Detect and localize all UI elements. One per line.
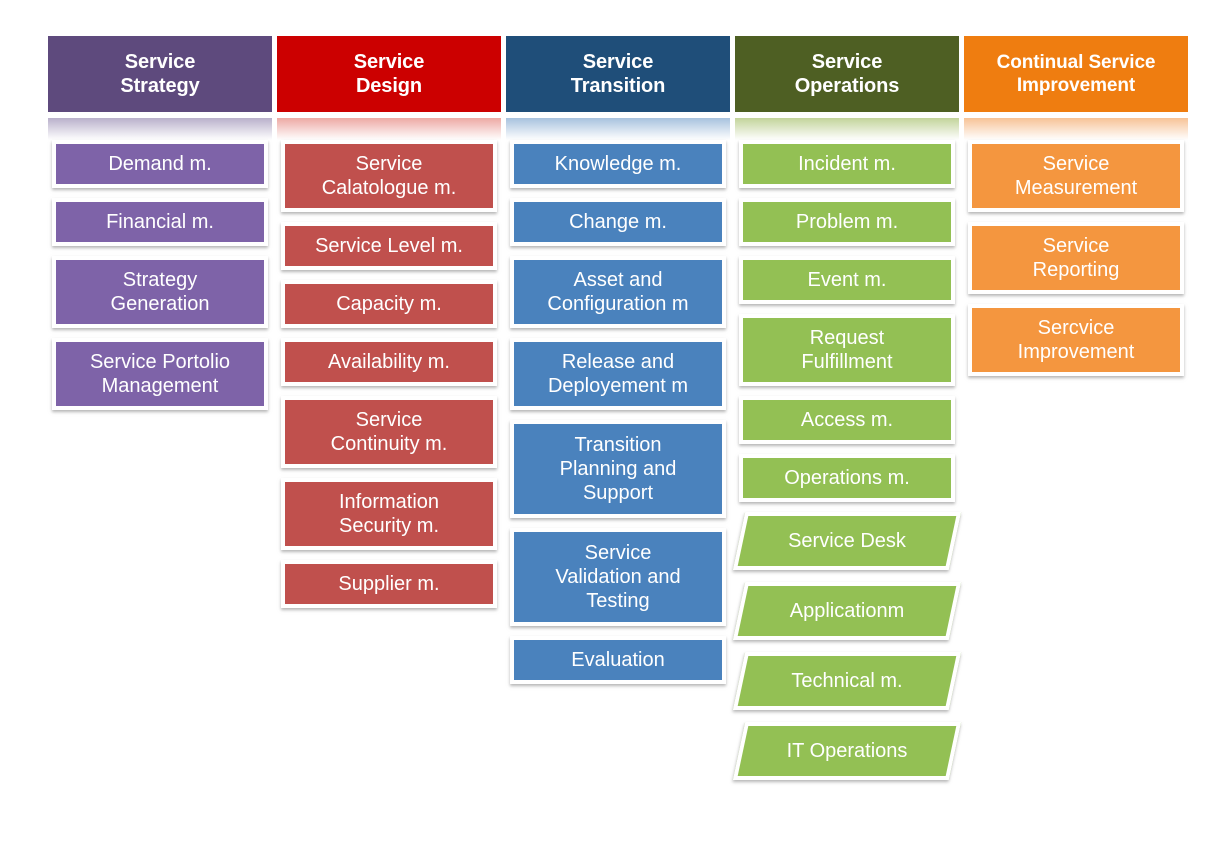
process-box-label: Access m. [801, 408, 893, 432]
process-box[interactable]: ServiceContinuity m. [281, 396, 497, 468]
lifecycle-column-service-operations: ServiceOperationsIncident m.Problem m.Ev… [735, 36, 959, 792]
process-box-label: Operations m. [784, 466, 910, 490]
process-box-label: StrategyGeneration [111, 268, 210, 316]
process-box[interactable]: Service PortolioManagement [52, 338, 268, 410]
column-items-continual-service-improvement: ServiceMeasurementServiceReportingSercvi… [964, 118, 1188, 386]
column-header-service-strategy: ServiceStrategy [48, 36, 272, 112]
lifecycle-column-service-transition: ServiceTransitionKnowledge m.Change m.As… [506, 36, 730, 694]
process-box[interactable]: Demand m. [52, 140, 268, 188]
process-box[interactable]: Supplier m. [281, 560, 497, 608]
process-box[interactable]: Evaluation [510, 636, 726, 684]
process-box-label: Applicationm [790, 599, 905, 623]
process-box-label: Capacity m. [336, 292, 442, 316]
process-box[interactable]: TransitionPlanning andSupport [510, 420, 726, 518]
process-box-label: Incident m. [798, 152, 896, 176]
process-box-label: Evaluation [571, 648, 664, 672]
process-box[interactable]: ServiceReporting [968, 222, 1184, 294]
process-box-label: Knowledge m. [555, 152, 682, 176]
process-box[interactable]: Operations m. [739, 454, 955, 502]
column-header-service-transition: ServiceTransition [506, 36, 730, 112]
column-items-service-design: ServiceCalatologue m.Service Level m.Cap… [277, 118, 501, 618]
process-box[interactable]: Service Desk [739, 512, 955, 570]
process-box[interactable]: Service Level m. [281, 222, 497, 270]
process-box-label: Availability m. [328, 350, 450, 374]
process-box-label: ServiceReporting [1033, 234, 1120, 282]
process-box-label: ServiceValidation andTesting [555, 541, 680, 613]
column-items-service-transition: Knowledge m.Change m.Asset andConfigurat… [506, 118, 730, 694]
process-box[interactable]: Knowledge m. [510, 140, 726, 188]
column-header-service-design: ServiceDesign [277, 36, 501, 112]
process-box[interactable]: IT Operations [739, 722, 955, 780]
process-box-label: ServiceMeasurement [1015, 152, 1137, 200]
process-box-label: Release andDeployement m [548, 350, 688, 398]
process-box-label: RequestFulfillment [801, 326, 892, 374]
process-box-label: Service Level m. [315, 234, 463, 258]
process-box[interactable]: Incident m. [739, 140, 955, 188]
process-box-label: Supplier m. [338, 572, 439, 596]
process-box[interactable]: Event m. [739, 256, 955, 304]
process-box-label: Change m. [569, 210, 667, 234]
lifecycle-columns: ServiceStrategyDemand m.Financial m.Stra… [48, 36, 1188, 792]
column-items-service-strategy: Demand m.Financial m.StrategyGenerationS… [48, 118, 272, 420]
column-items-service-operations: Incident m.Problem m.Event m.RequestFulf… [735, 118, 959, 792]
process-box[interactable]: RequestFulfillment [739, 314, 955, 386]
process-box[interactable]: StrategyGeneration [52, 256, 268, 328]
process-box-label: IT Operations [787, 739, 908, 763]
process-box-label: Technical m. [791, 669, 902, 693]
process-box-label: TransitionPlanning andSupport [560, 433, 677, 505]
process-box-label: ServiceCalatologue m. [322, 152, 457, 200]
column-header-service-operations: ServiceOperations [735, 36, 959, 112]
process-box-label: Service Desk [788, 529, 906, 553]
process-box[interactable]: Problem m. [739, 198, 955, 246]
process-box[interactable]: Change m. [510, 198, 726, 246]
process-box[interactable]: Release andDeployement m [510, 338, 726, 410]
process-box-label: Financial m. [106, 210, 214, 234]
process-box[interactable]: ServiceMeasurement [968, 140, 1184, 212]
process-box[interactable]: ServiceCalatologue m. [281, 140, 497, 212]
process-box[interactable]: Access m. [739, 396, 955, 444]
process-box[interactable]: InformationSecurity m. [281, 478, 497, 550]
process-box-label: Asset andConfiguration m [547, 268, 688, 316]
process-box[interactable]: ServiceValidation andTesting [510, 528, 726, 626]
process-box[interactable]: Asset andConfiguration m [510, 256, 726, 328]
column-header-continual-service-improvement: Continual ServiceImprovement [964, 36, 1188, 112]
process-box[interactable]: Technical m. [739, 652, 955, 710]
process-box[interactable]: Availability m. [281, 338, 497, 386]
process-box-label: ServiceContinuity m. [331, 408, 448, 456]
process-box-label: SercviceImprovement [1018, 316, 1135, 364]
process-box[interactable]: SercviceImprovement [968, 304, 1184, 376]
process-box-label: Service PortolioManagement [90, 350, 230, 398]
process-box[interactable]: Capacity m. [281, 280, 497, 328]
process-box-label: InformationSecurity m. [339, 490, 439, 538]
lifecycle-column-service-design: ServiceDesignServiceCalatologue m.Servic… [277, 36, 501, 618]
process-box-label: Demand m. [108, 152, 211, 176]
lifecycle-column-service-strategy: ServiceStrategyDemand m.Financial m.Stra… [48, 36, 272, 420]
process-box[interactable]: Applicationm [739, 582, 955, 640]
lifecycle-column-continual-service-improvement: Continual ServiceImprovementServiceMeasu… [964, 36, 1188, 386]
process-box-label: Event m. [808, 268, 887, 292]
process-box-label: Problem m. [796, 210, 898, 234]
process-box[interactable]: Financial m. [52, 198, 268, 246]
itil-lifecycle-diagram: ServiceStrategyDemand m.Financial m.Stra… [0, 0, 1226, 848]
